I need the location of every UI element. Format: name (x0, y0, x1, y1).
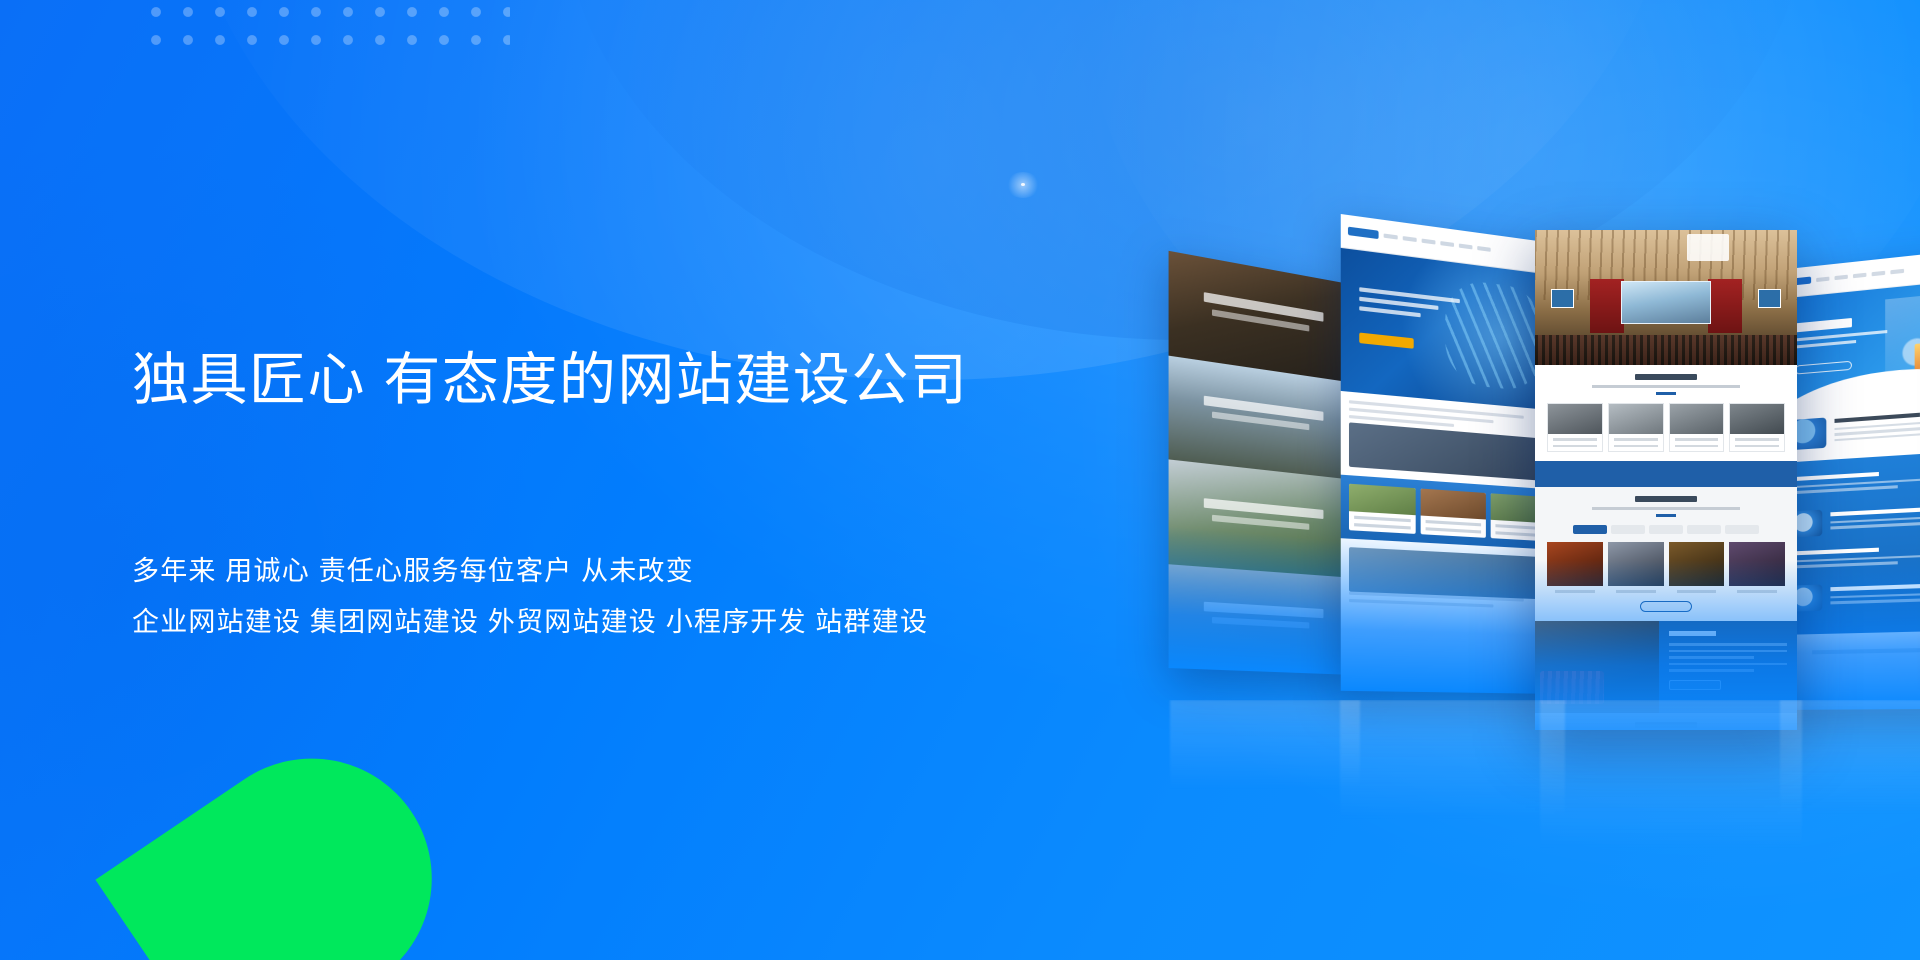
mockup-section-machinery (1535, 713, 1797, 730)
mockup-aerial-projects (1169, 251, 1355, 675)
banner-subtitle-line-1: 多年来 用诚心 责任心服务每位客户 从未改变 (132, 558, 928, 585)
mockup-section-advantages (1535, 365, 1797, 461)
mockup-hero (1535, 230, 1797, 365)
stage-screen (1621, 281, 1710, 324)
mockup-advantages-zone (1778, 448, 1920, 634)
mockup-theater-auditorium (1535, 230, 1797, 730)
sparkle-top-icon (1021, 183, 1025, 186)
stage-curtain (1708, 279, 1742, 333)
mockup-hero (1341, 247, 1560, 410)
side-display-icon (1758, 289, 1782, 308)
mockup-section-product-intro (1535, 487, 1797, 621)
website-mockup-showcase (1130, 230, 1920, 790)
mockup-cta-button (1359, 332, 1413, 348)
banner-subtitles: 多年来 用诚心 责任心服务每位客户 从未改变 企业网站建设 集团网站建设 外贸网… (132, 558, 928, 636)
mockup-cta-button (1795, 360, 1852, 374)
mockup-menu-panel (1687, 234, 1729, 261)
mockup-biotech-dna (1341, 214, 1560, 694)
mockup-section-company (1535, 621, 1797, 713)
banner-headline: 独具匠心 有态度的网站建设公司 (132, 347, 968, 414)
banner-subtitle-line-2: 企业网站建设 集团网站建设 外贸网站建设 小程序开发 站群建设 (132, 609, 928, 636)
hero-banner: 独具匠心 有态度的网站建设公司 多年来 用诚心 责任心服务每位客户 从未改变 企… (0, 0, 1920, 960)
mockup-hero (1778, 276, 1920, 409)
stage-curtain (1590, 279, 1624, 333)
side-display-icon (1551, 289, 1575, 308)
mockup-tab (1725, 525, 1759, 534)
mockup-band (1169, 459, 1355, 577)
mockup-image (1349, 422, 1553, 481)
mockup-logo (1348, 227, 1379, 239)
mockup-education-english (1778, 246, 1920, 710)
mockup-more-button (1640, 601, 1692, 612)
mockup-detail-button (1669, 680, 1721, 690)
hero-illustration (1886, 289, 1920, 378)
mockup-divider-band (1535, 461, 1797, 487)
mockup-section-tech (1341, 538, 1560, 622)
dot-grid-icon (150, 6, 510, 62)
mockup-tab (1687, 525, 1721, 534)
mockup-tab (1649, 525, 1683, 534)
audience-seating (1535, 335, 1797, 365)
mockup-image (1349, 547, 1553, 600)
mockup-footer (1778, 629, 1920, 688)
mockup-band (1169, 564, 1355, 675)
mockup-tab (1611, 525, 1645, 534)
mockup-tab (1573, 525, 1607, 534)
dna-helix-icon (1445, 277, 1544, 392)
